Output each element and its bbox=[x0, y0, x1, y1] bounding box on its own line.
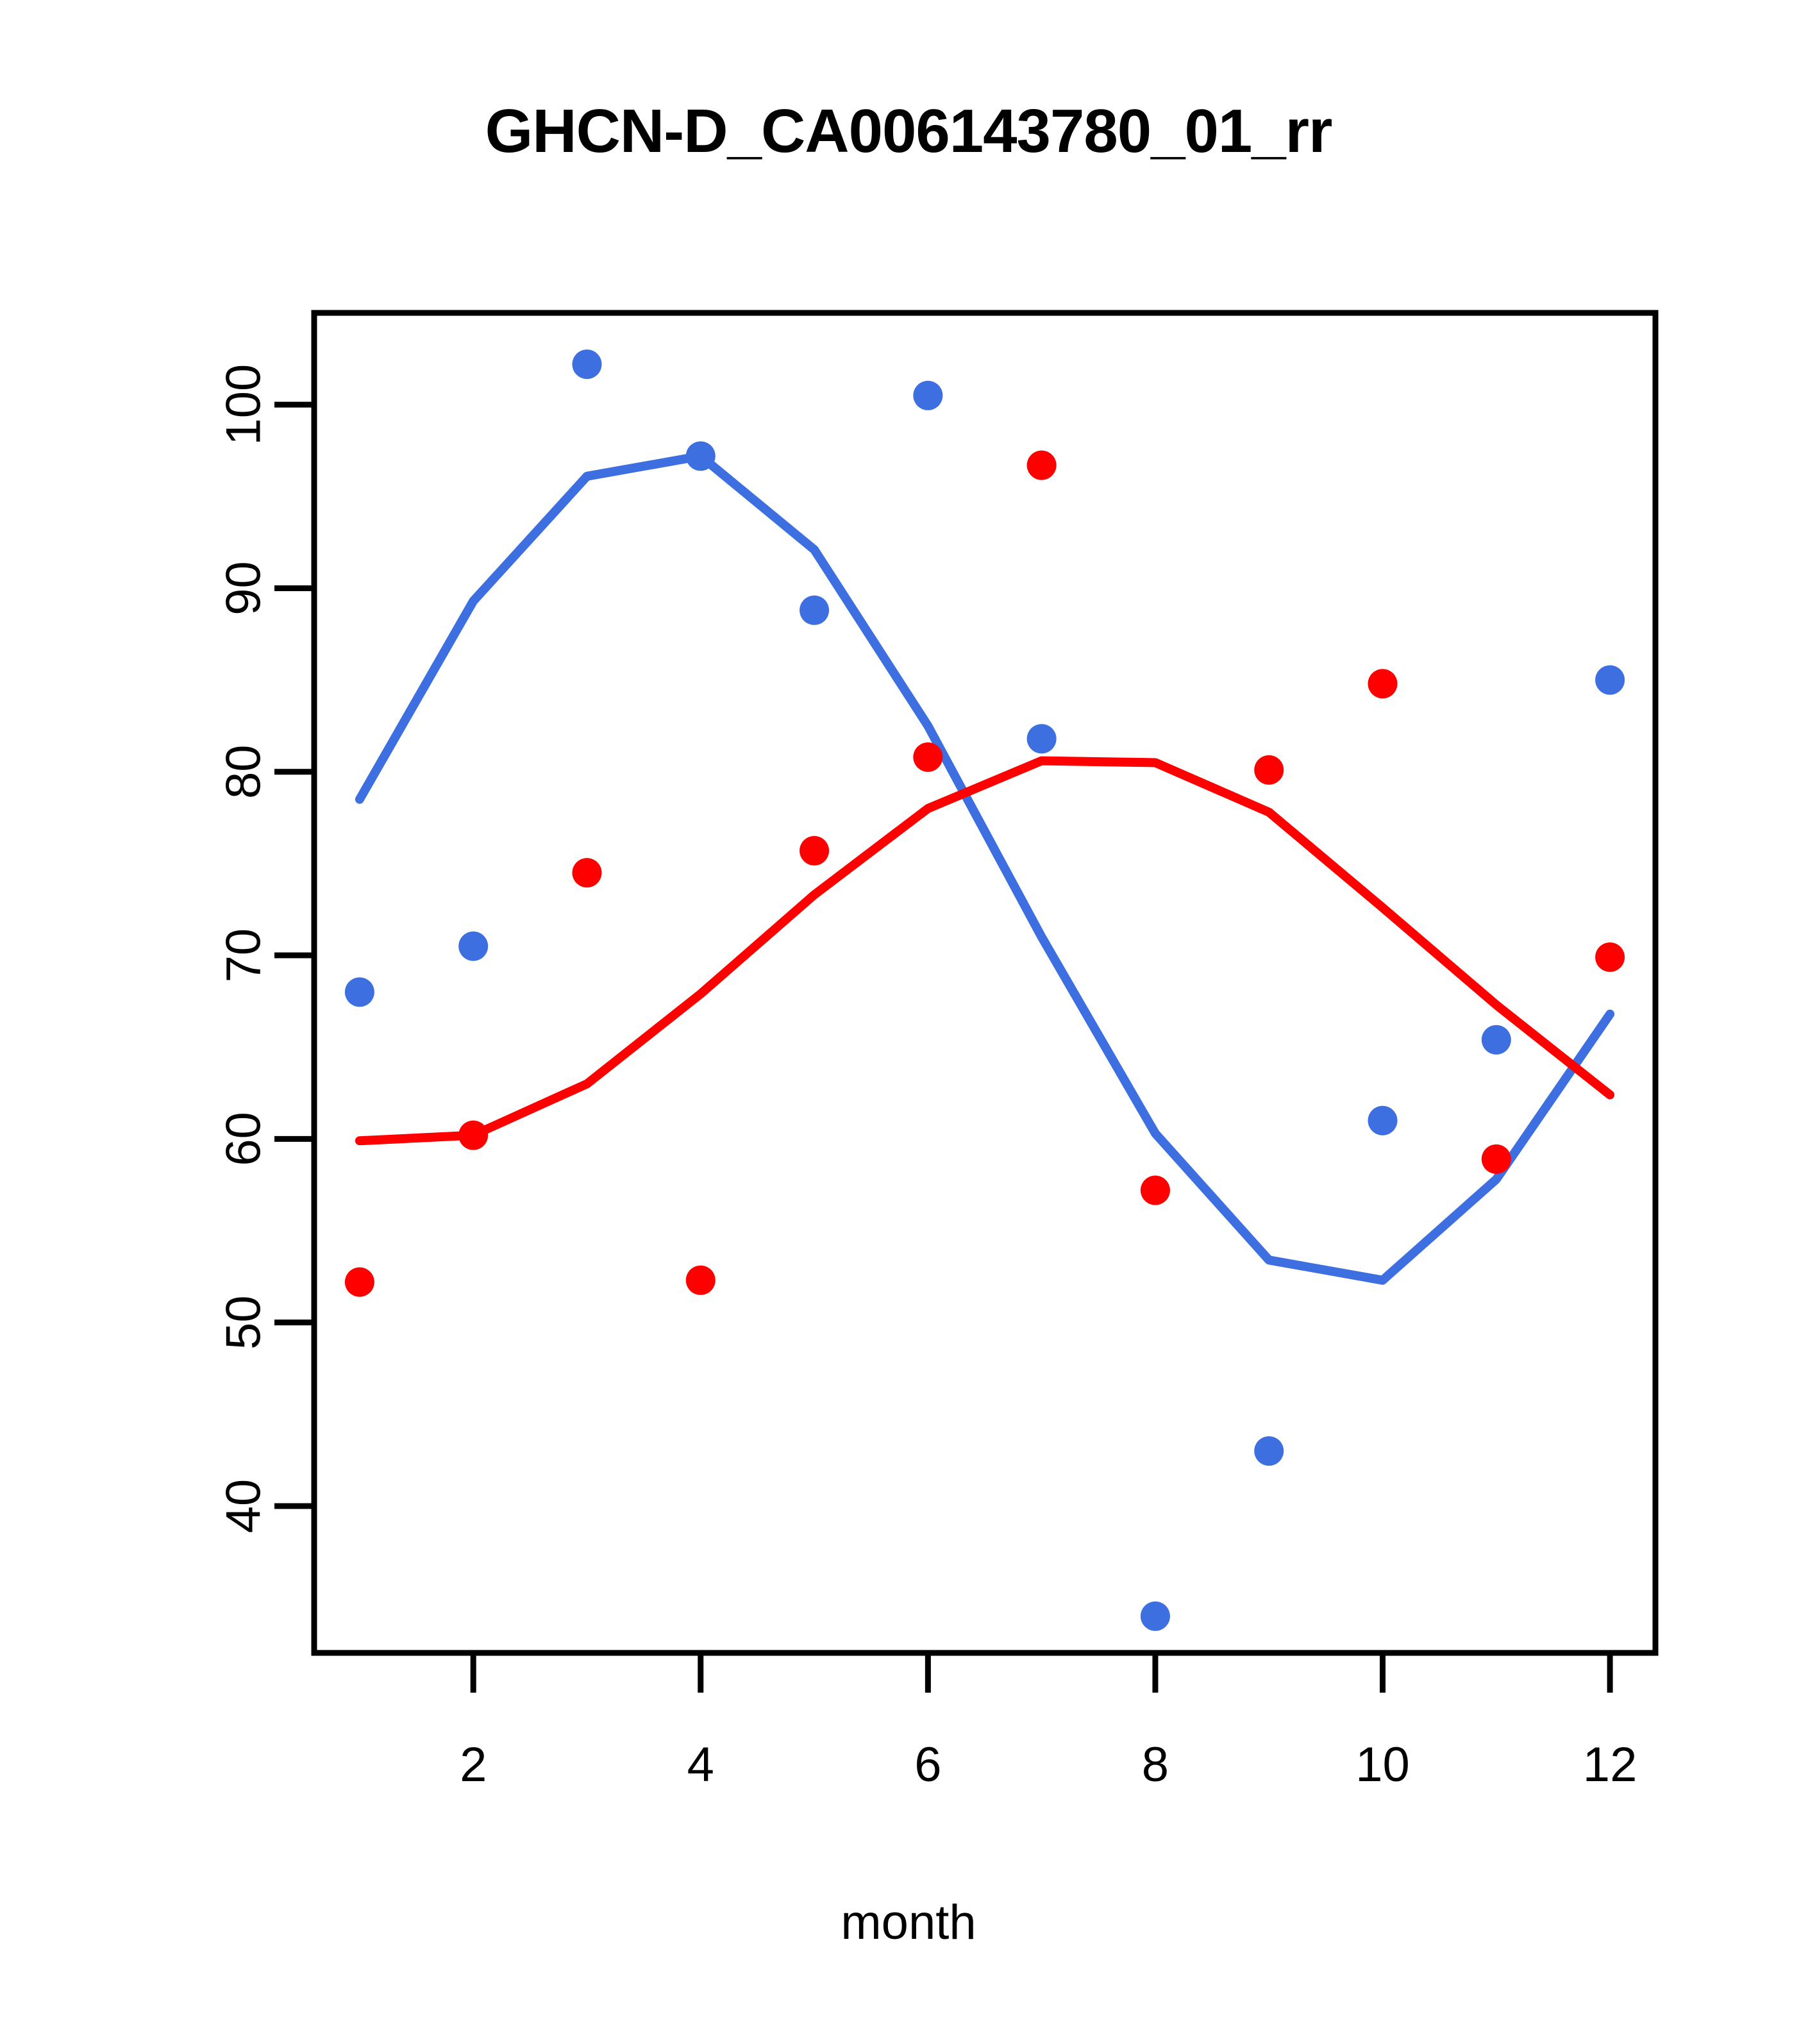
data-point-red-points bbox=[572, 858, 601, 887]
data-point-red-points bbox=[800, 836, 829, 866]
x-axis-label: month bbox=[0, 1895, 1817, 1950]
data-point-red-points bbox=[1027, 451, 1057, 480]
x-tick-label: 4 bbox=[687, 1738, 714, 1792]
y-tick-label: 50 bbox=[217, 1295, 271, 1350]
x-tick-label: 10 bbox=[1355, 1738, 1410, 1792]
data-point-red-points bbox=[913, 742, 942, 772]
data-point-red-points bbox=[345, 1268, 374, 1297]
data-point-red-points bbox=[1368, 669, 1398, 698]
y-axis-ticks: 405060708090100 bbox=[217, 364, 315, 1533]
data-point-blue-points bbox=[1027, 724, 1057, 753]
x-tick-label: 6 bbox=[914, 1738, 941, 1792]
data-point-red-points bbox=[458, 1121, 488, 1150]
data-point-blue-points bbox=[1368, 1106, 1398, 1135]
y-tick-label: 100 bbox=[217, 364, 271, 446]
plot-border bbox=[314, 313, 1655, 1653]
data-point-blue-points bbox=[458, 932, 488, 961]
data-points bbox=[345, 349, 1625, 1631]
data-point-blue-points bbox=[686, 441, 716, 471]
y-tick-label: 60 bbox=[217, 1112, 271, 1166]
x-tick-label: 12 bbox=[1583, 1738, 1637, 1792]
x-tick-label: 8 bbox=[1142, 1738, 1169, 1792]
y-tick-label: 40 bbox=[217, 1479, 271, 1534]
scatter-plot-svg: 24681012 405060708090100 bbox=[0, 0, 1817, 2044]
data-point-blue-points bbox=[1141, 1602, 1170, 1631]
data-point-red-points bbox=[1254, 755, 1284, 785]
y-tick-label: 80 bbox=[217, 744, 271, 799]
data-point-red-points bbox=[1141, 1176, 1170, 1205]
chart-canvas: GHCN-D_CA006143780_01_rr 24681012 405060… bbox=[0, 0, 1817, 2044]
trend-line-blue-smooth bbox=[360, 456, 1610, 1280]
data-point-red-points bbox=[1482, 1144, 1511, 1174]
data-point-blue-points bbox=[572, 349, 601, 379]
data-point-blue-points bbox=[913, 381, 942, 410]
data-point-blue-points bbox=[1482, 1025, 1511, 1055]
x-axis-ticks: 24681012 bbox=[460, 1653, 1637, 1792]
data-point-blue-points bbox=[800, 596, 829, 625]
data-point-red-points bbox=[1595, 942, 1625, 972]
x-tick-label: 2 bbox=[460, 1738, 487, 1792]
plot-box bbox=[314, 313, 1655, 1653]
trend-lines bbox=[360, 456, 1610, 1280]
data-point-blue-points bbox=[1595, 666, 1625, 695]
y-tick-label: 70 bbox=[217, 928, 271, 983]
data-point-red-points bbox=[686, 1266, 716, 1295]
trend-line-red-smooth bbox=[360, 761, 1610, 1141]
y-tick-label: 90 bbox=[217, 561, 271, 616]
data-point-blue-points bbox=[1254, 1436, 1284, 1466]
data-point-blue-points bbox=[345, 977, 374, 1007]
